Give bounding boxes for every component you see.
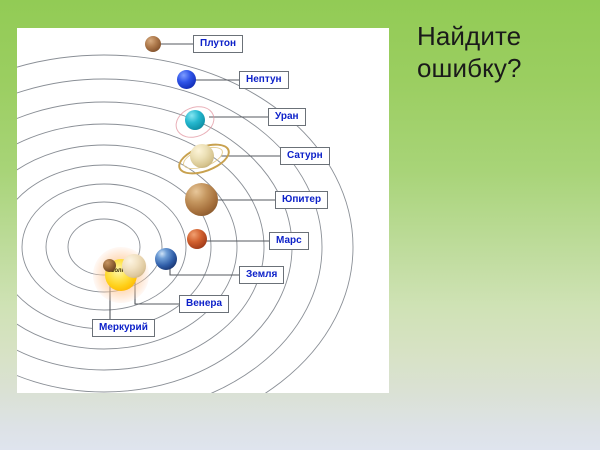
- planet-jupiter: [185, 183, 218, 216]
- saturn-body: [190, 144, 214, 168]
- label-venus[interactable]: Венера: [179, 295, 229, 313]
- label-jupiter[interactable]: Юпитер: [275, 191, 328, 209]
- label-mars[interactable]: Марс: [269, 232, 309, 250]
- planet-mercury: [103, 259, 116, 272]
- label-earth[interactable]: Земля: [239, 266, 284, 284]
- planet-earth: [155, 248, 177, 270]
- solar-system-diagram: Солнце Плутон Нептун Уран: [17, 28, 389, 393]
- label-pluto[interactable]: Плутон: [193, 35, 243, 53]
- orbit-uranus: [17, 102, 292, 392]
- label-saturn[interactable]: Сатурн: [280, 147, 330, 165]
- slide-canvas: Найдите ошибку?: [0, 0, 600, 450]
- label-mercury[interactable]: Меркурий: [92, 319, 155, 337]
- label-neptune[interactable]: Нептун: [239, 71, 289, 89]
- planet-saturn: [177, 138, 229, 178]
- page-title: Найдите ошибку?: [417, 20, 592, 84]
- planet-uranus: [175, 104, 213, 138]
- planet-mars: [187, 229, 207, 249]
- planet-venus: [122, 254, 146, 278]
- label-uranus[interactable]: Уран: [268, 108, 306, 126]
- planet-pluto: [145, 36, 161, 52]
- uranus-body: [185, 110, 205, 130]
- planet-neptune: [177, 70, 196, 89]
